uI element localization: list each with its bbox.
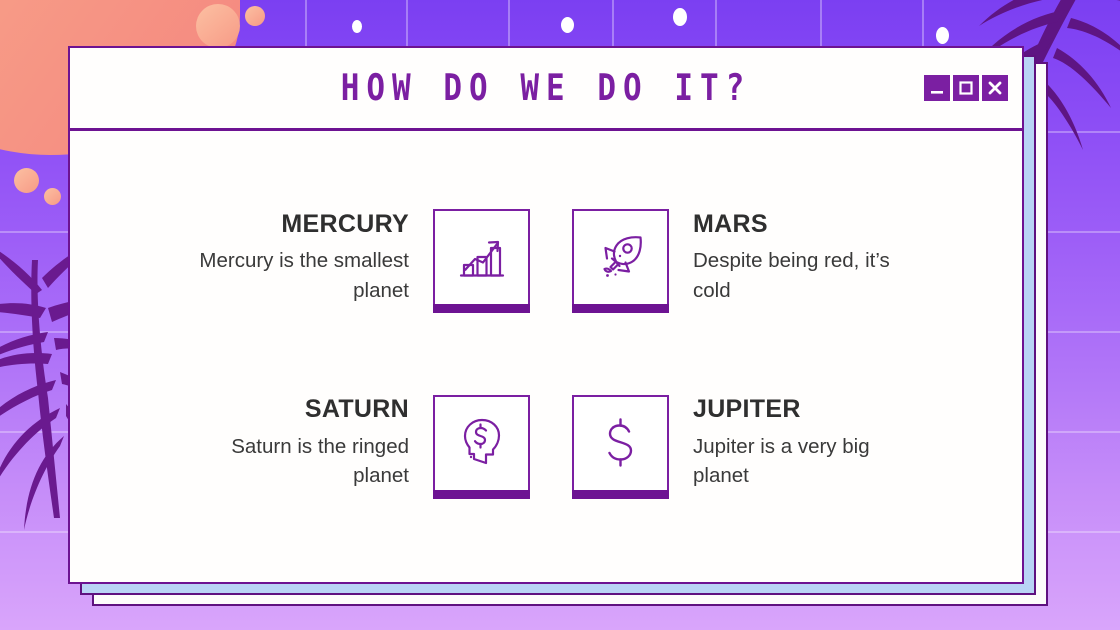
bar-chart-growth-icon bbox=[433, 209, 530, 306]
decorative-dot bbox=[14, 168, 39, 193]
feature-description: Saturn is the ringed planet bbox=[194, 432, 409, 490]
feature-text-block: MERCURY Mercury is the smallest planet bbox=[194, 211, 409, 305]
feature-description: Mercury is the smallest planet bbox=[194, 246, 409, 304]
feature-description: Despite being red, it’s cold bbox=[693, 246, 908, 304]
feature-title: SATURN bbox=[194, 396, 409, 424]
main-window: HOW DO WE DO IT? bbox=[68, 46, 1024, 584]
feature-title: MERCURY bbox=[194, 211, 409, 239]
decorative-dot bbox=[245, 6, 265, 26]
feature-text-block: SATURN Saturn is the ringed planet bbox=[194, 396, 409, 490]
feature-item-mars: MARS Despite being red, it’s cold bbox=[546, 165, 988, 351]
feature-item-saturn: SATURN Saturn is the ringed planet bbox=[104, 351, 546, 537]
feature-title: JUPITER bbox=[693, 396, 908, 424]
slide-canvas: HOW DO WE DO IT? bbox=[0, 0, 1120, 630]
rocket-icon bbox=[572, 209, 669, 306]
decorative-dot bbox=[44, 188, 61, 205]
maximize-button[interactable] bbox=[953, 75, 979, 101]
decorative-dot bbox=[196, 4, 240, 48]
window-controls bbox=[924, 75, 1008, 101]
close-button[interactable] bbox=[982, 75, 1008, 101]
decorative-dot bbox=[561, 17, 574, 33]
feature-text-block: JUPITER Jupiter is a very big planet bbox=[693, 396, 908, 490]
feature-title: MARS bbox=[693, 211, 908, 239]
head-dollar-icon bbox=[433, 395, 530, 492]
features-grid: MERCURY Mercury is the smallest planet bbox=[70, 131, 1022, 582]
feature-item-jupiter: JUPITER Jupiter is a very big planet bbox=[546, 351, 988, 537]
feature-item-mercury: MERCURY Mercury is the smallest planet bbox=[104, 165, 546, 351]
dollar-sign-icon bbox=[572, 395, 669, 492]
page-title: HOW DO WE DO IT? bbox=[341, 67, 752, 109]
decorative-dot bbox=[673, 8, 687, 26]
decorative-dot bbox=[352, 20, 362, 33]
window-titlebar: HOW DO WE DO IT? bbox=[70, 48, 1022, 131]
minimize-button[interactable] bbox=[924, 75, 950, 101]
feature-text-block: MARS Despite being red, it’s cold bbox=[693, 211, 908, 305]
feature-description: Jupiter is a very big planet bbox=[693, 432, 908, 490]
